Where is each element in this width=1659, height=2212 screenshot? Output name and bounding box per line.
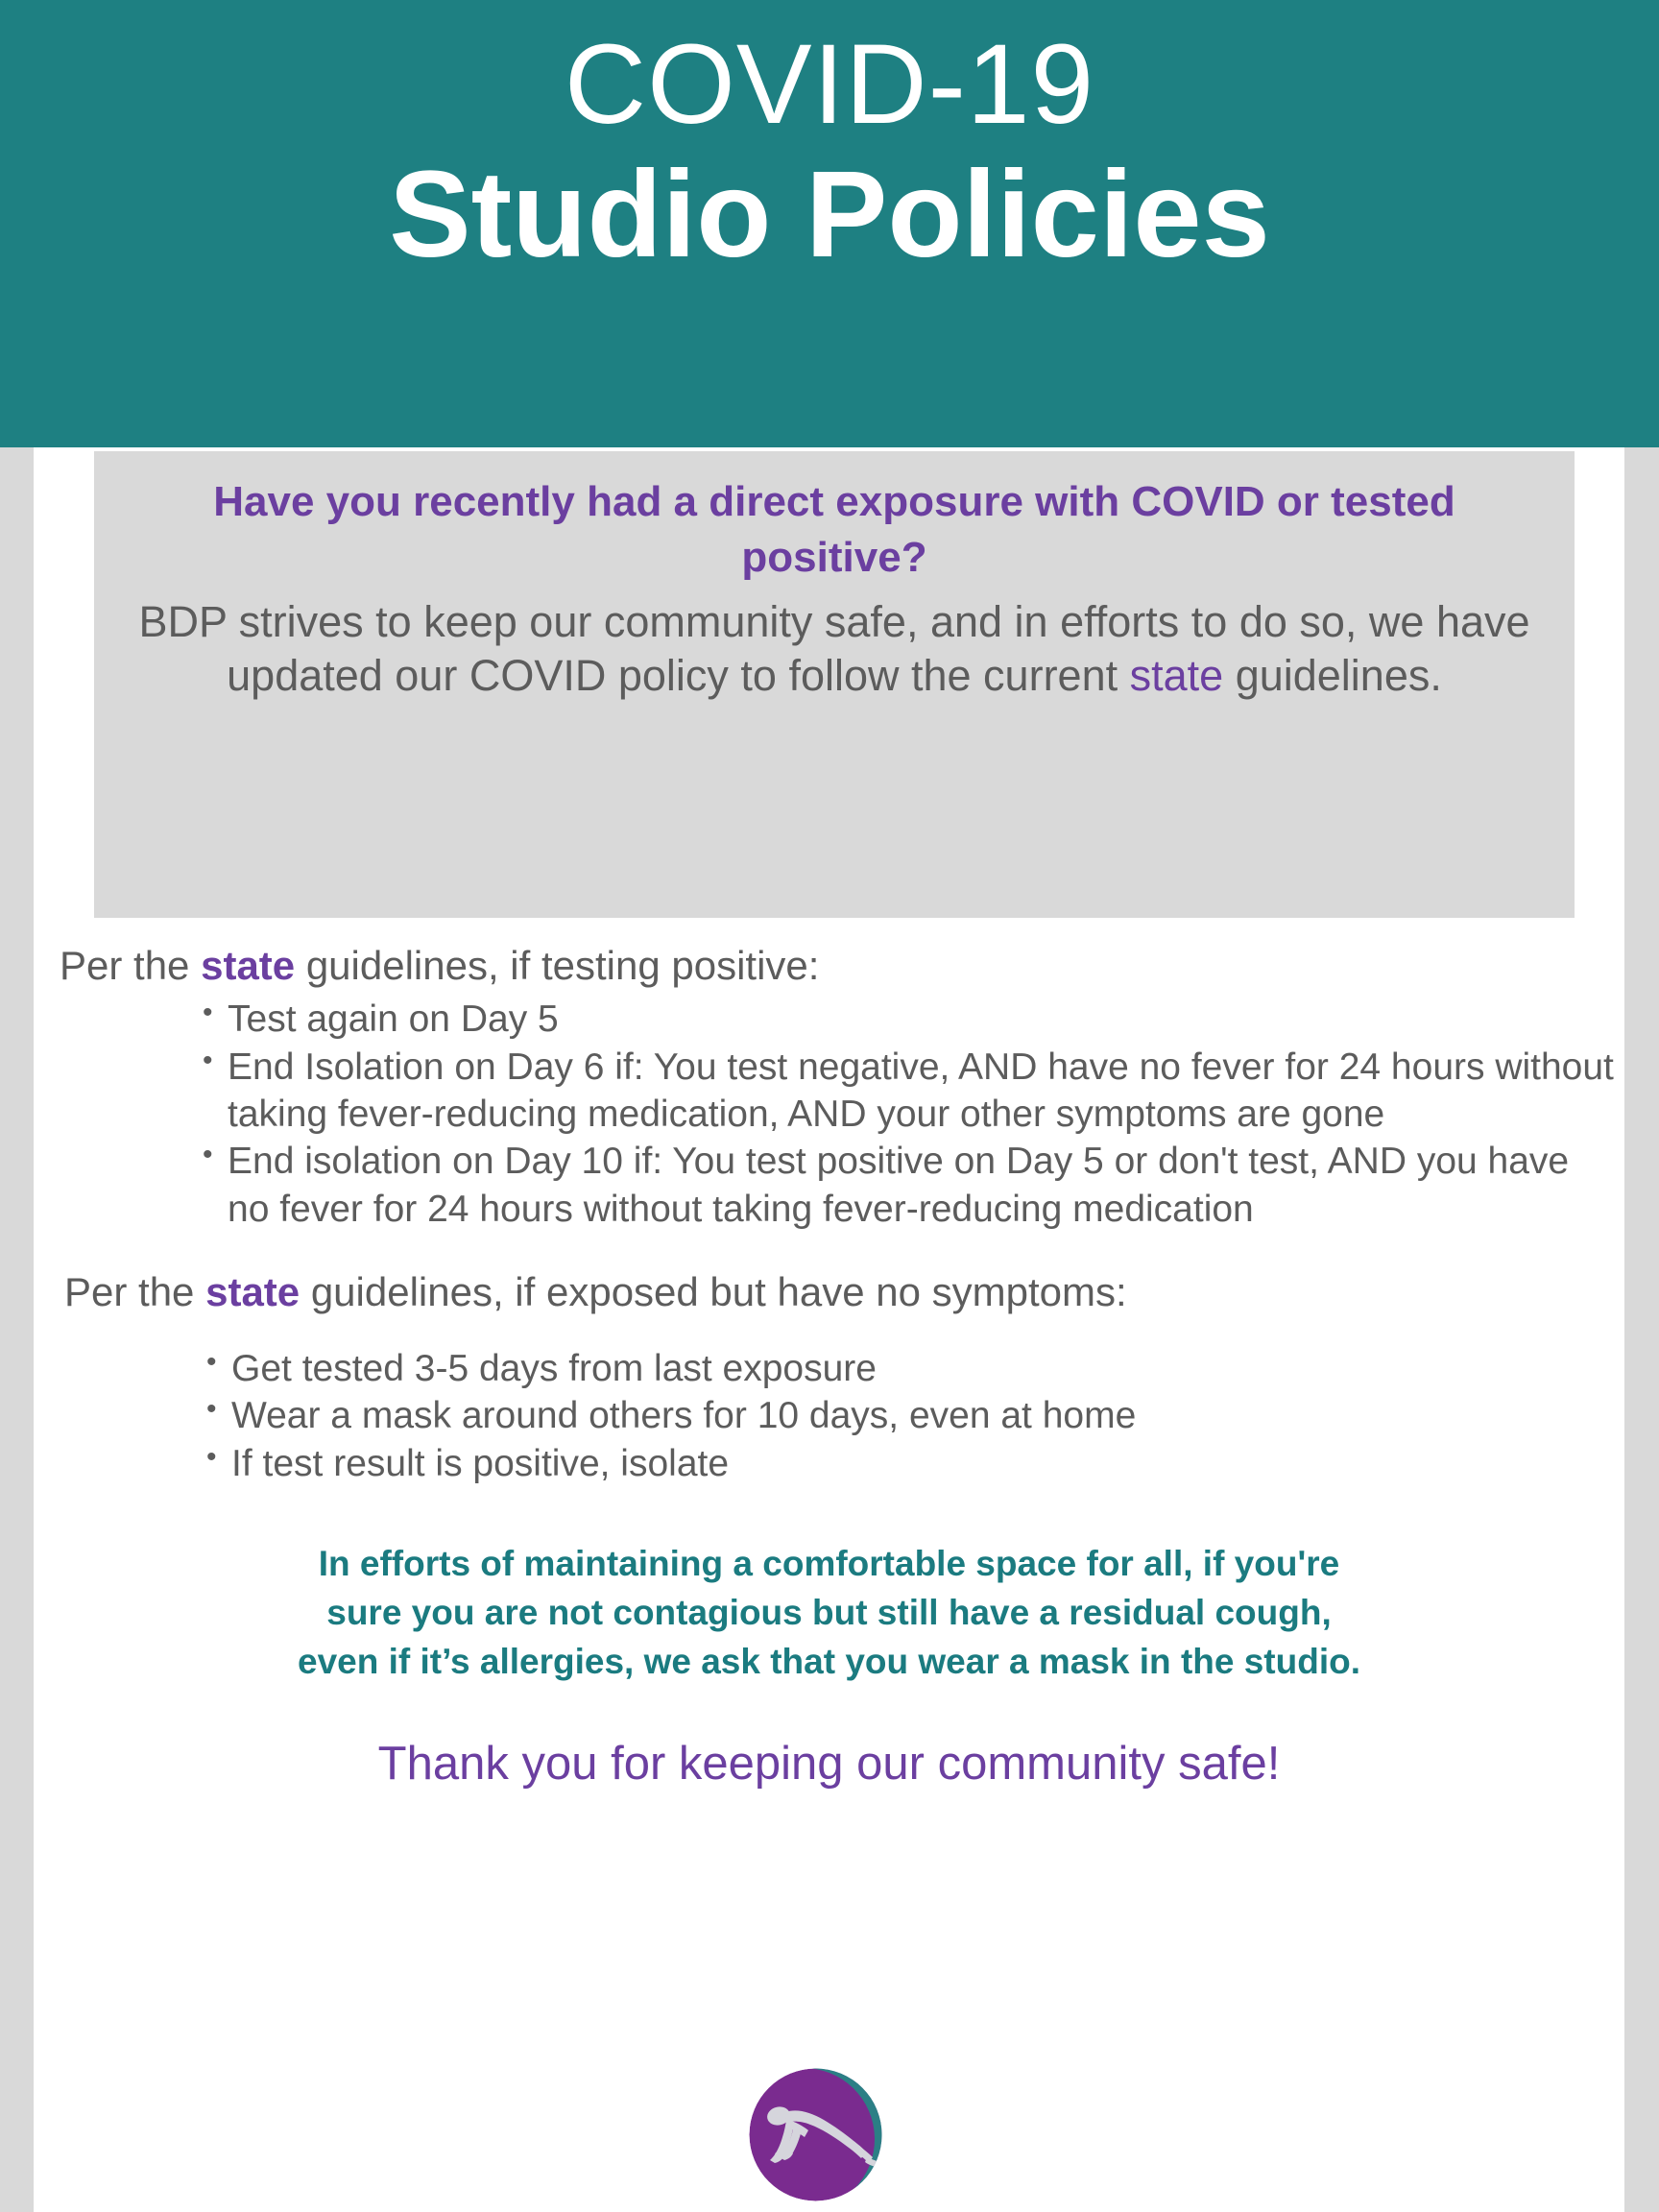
callout-body-part2: guidelines.	[1223, 651, 1442, 700]
section-exposed-lead: Per the state guidelines, if exposed but…	[34, 1267, 1624, 1316]
section-exposed-bullet-list: Get tested 3-5 days from last exposure W…	[34, 1345, 1624, 1487]
callout-body: BDP strives to keep our community safe, …	[127, 595, 1542, 704]
callout-body-state-highlight: state	[1130, 651, 1224, 700]
section-positive-bullet-list: Test again on Day 5 End Isolation on Day…	[34, 996, 1624, 1233]
callout-box: Have you recently had a direct exposure …	[94, 451, 1575, 918]
header-title-covid: COVID-19	[0, 0, 1659, 148]
thank-you-message: Thank you for keeping our community safe…	[34, 1686, 1624, 1792]
teal-note-line3: even if it’s allergies, we ask that you …	[298, 1642, 1360, 1681]
list-item: End isolation on Day 10 if: You test pos…	[203, 1138, 1615, 1233]
section-exposed-lead-part2: guidelines, if exposed but have no sympt…	[300, 1269, 1127, 1314]
studio-logo-icon	[747, 2066, 884, 2203]
list-item: End Isolation on Day 6 if: You test nega…	[203, 1044, 1615, 1139]
section-positive-lead-part2: guidelines, if testing positive:	[295, 943, 819, 988]
poster-canvas: COVID-19 Studio Policies Have you recent…	[0, 0, 1659, 2212]
callout-question: Have you recently had a direct exposure …	[127, 474, 1542, 586]
section-divider-space	[34, 1233, 1624, 1267]
teal-note-line1: In efforts of maintaining a comfortable …	[319, 1544, 1339, 1583]
section-positive-lead: Per the state guidelines, if testing pos…	[34, 941, 1624, 990]
list-item: Test again on Day 5	[203, 996, 1615, 1043]
list-item: Wear a mask around others for 10 days, e…	[206, 1392, 1624, 1439]
section-exposed-state-highlight: state	[205, 1269, 300, 1314]
teal-note-line2: sure you are not contagious but still ha…	[326, 1593, 1331, 1632]
section-positive-lead-part1: Per the	[60, 943, 201, 988]
callout-question-line1: Have you recently had a direct exposure …	[213, 478, 1119, 525]
section-exposed-lead-part1: Per the	[64, 1269, 205, 1314]
list-item: Get tested 3-5 days from last exposure	[206, 1345, 1624, 1392]
header-title-studio: Studio Policies	[0, 142, 1659, 287]
teal-emphasis-note: In efforts of maintaining a comfortable …	[34, 1487, 1624, 1686]
main-content: Per the state guidelines, if testing pos…	[34, 941, 1624, 1792]
list-spacer	[34, 1322, 1624, 1345]
section-positive-state-highlight: state	[201, 943, 295, 988]
studio-logo	[747, 2066, 884, 2203]
list-item: If test result is positive, isolate	[206, 1440, 1624, 1487]
poster-header: COVID-19 Studio Policies	[0, 0, 1659, 447]
